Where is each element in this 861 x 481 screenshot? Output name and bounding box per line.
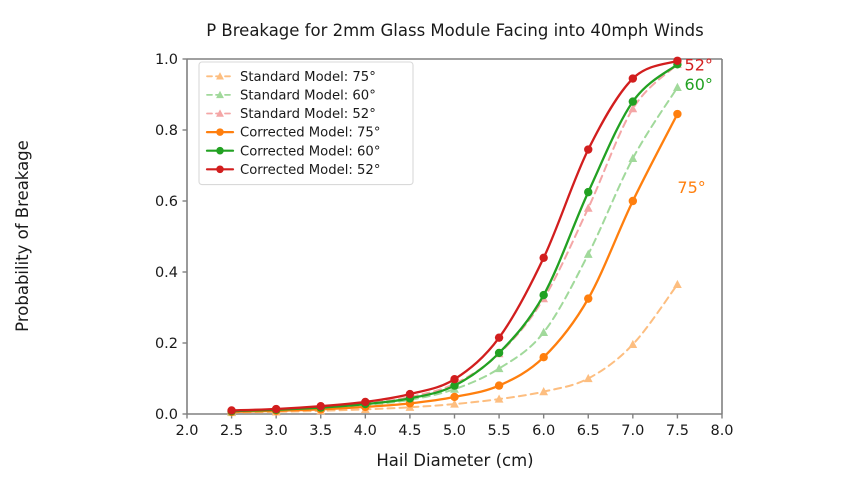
- chart-svg: P Breakage for 2mm Glass Module Facing i…: [0, 0, 861, 481]
- data-point-marker: [495, 381, 503, 389]
- x-tick-label: 5.5: [488, 423, 511, 439]
- x-tick-label: 3.0: [265, 423, 288, 439]
- data-point-marker: [673, 57, 681, 65]
- x-tick-label: 8.0: [710, 423, 733, 439]
- data-point-marker: [539, 353, 547, 361]
- data-point-marker: [673, 110, 681, 118]
- chart-legend[interactable]: Standard Model: 75°Standard Model: 60°St…: [199, 62, 413, 185]
- figure-canvas: P Breakage for 2mm Glass Module Facing i…: [0, 0, 861, 481]
- y-axis-ticks: 0.00.20.40.60.81.0: [155, 52, 187, 423]
- data-point-marker: [629, 197, 637, 205]
- x-tick-label: 2.5: [220, 423, 243, 439]
- data-point-marker: [450, 375, 458, 383]
- data-point-marker: [584, 250, 593, 258]
- data-point-marker: [584, 374, 593, 382]
- data-point-marker: [361, 398, 369, 406]
- x-tick-label: 4.5: [398, 423, 421, 439]
- x-tick-label: 7.0: [621, 423, 644, 439]
- legend-label: Corrected Model: 60°: [240, 144, 380, 159]
- y-axis-label: Probability of Breakage: [13, 140, 32, 332]
- chart-title: P Breakage for 2mm Glass Module Facing i…: [206, 21, 704, 40]
- data-point-marker: [495, 364, 504, 372]
- data-point-marker: [629, 97, 637, 105]
- data-point-marker: [673, 280, 682, 288]
- data-point-marker: [450, 393, 458, 401]
- y-tick-label: 0.6: [155, 194, 178, 210]
- x-tick-label: 6.5: [577, 423, 600, 439]
- data-point-marker: [216, 128, 224, 136]
- data-point-marker: [216, 166, 224, 174]
- annotation-layer: 52°60°75°: [677, 55, 712, 196]
- x-tick-label: 5.0: [443, 423, 466, 439]
- x-tick-label: 6.0: [532, 423, 555, 439]
- x-axis-ticks: 2.02.53.03.54.04.55.05.56.06.57.07.58.0: [175, 414, 733, 439]
- legend-label: Corrected Model: 52°: [240, 163, 380, 178]
- legend-label: Standard Model: 52°: [240, 107, 376, 122]
- legend-label: Standard Model: 75°: [240, 70, 376, 85]
- data-point-marker: [227, 406, 235, 414]
- annotation-2: 75°: [677, 178, 705, 197]
- data-point-marker: [539, 291, 547, 299]
- data-point-marker: [272, 405, 280, 413]
- x-tick-label: 2.0: [175, 423, 198, 439]
- data-point-marker: [584, 204, 593, 212]
- data-point-marker: [673, 83, 682, 91]
- annotation-0: 52°: [685, 55, 713, 74]
- data-point-marker: [539, 254, 547, 262]
- x-tick-label: 4.0: [354, 423, 377, 439]
- y-tick-label: 0.0: [155, 407, 178, 423]
- y-tick-label: 0.2: [155, 336, 178, 352]
- x-tick-label: 7.5: [666, 423, 689, 439]
- y-tick-label: 0.8: [155, 123, 178, 139]
- data-point-marker: [495, 349, 503, 357]
- x-axis-label: Hail Diameter (cm): [376, 451, 533, 470]
- y-tick-label: 0.4: [155, 265, 178, 281]
- data-point-marker: [495, 333, 503, 341]
- x-tick-label: 3.5: [309, 423, 332, 439]
- annotation-1: 60°: [685, 75, 713, 94]
- legend-label: Standard Model: 60°: [240, 89, 376, 104]
- data-point-marker: [406, 390, 414, 398]
- legend-label: Corrected Model: 75°: [240, 126, 380, 141]
- y-tick-label: 1.0: [155, 52, 178, 68]
- data-point-marker: [317, 402, 325, 410]
- data-point-marker: [628, 154, 637, 162]
- data-point-marker: [216, 147, 224, 155]
- data-point-marker: [584, 145, 592, 153]
- data-point-marker: [629, 74, 637, 82]
- data-point-marker: [584, 188, 592, 196]
- data-point-marker: [584, 294, 592, 302]
